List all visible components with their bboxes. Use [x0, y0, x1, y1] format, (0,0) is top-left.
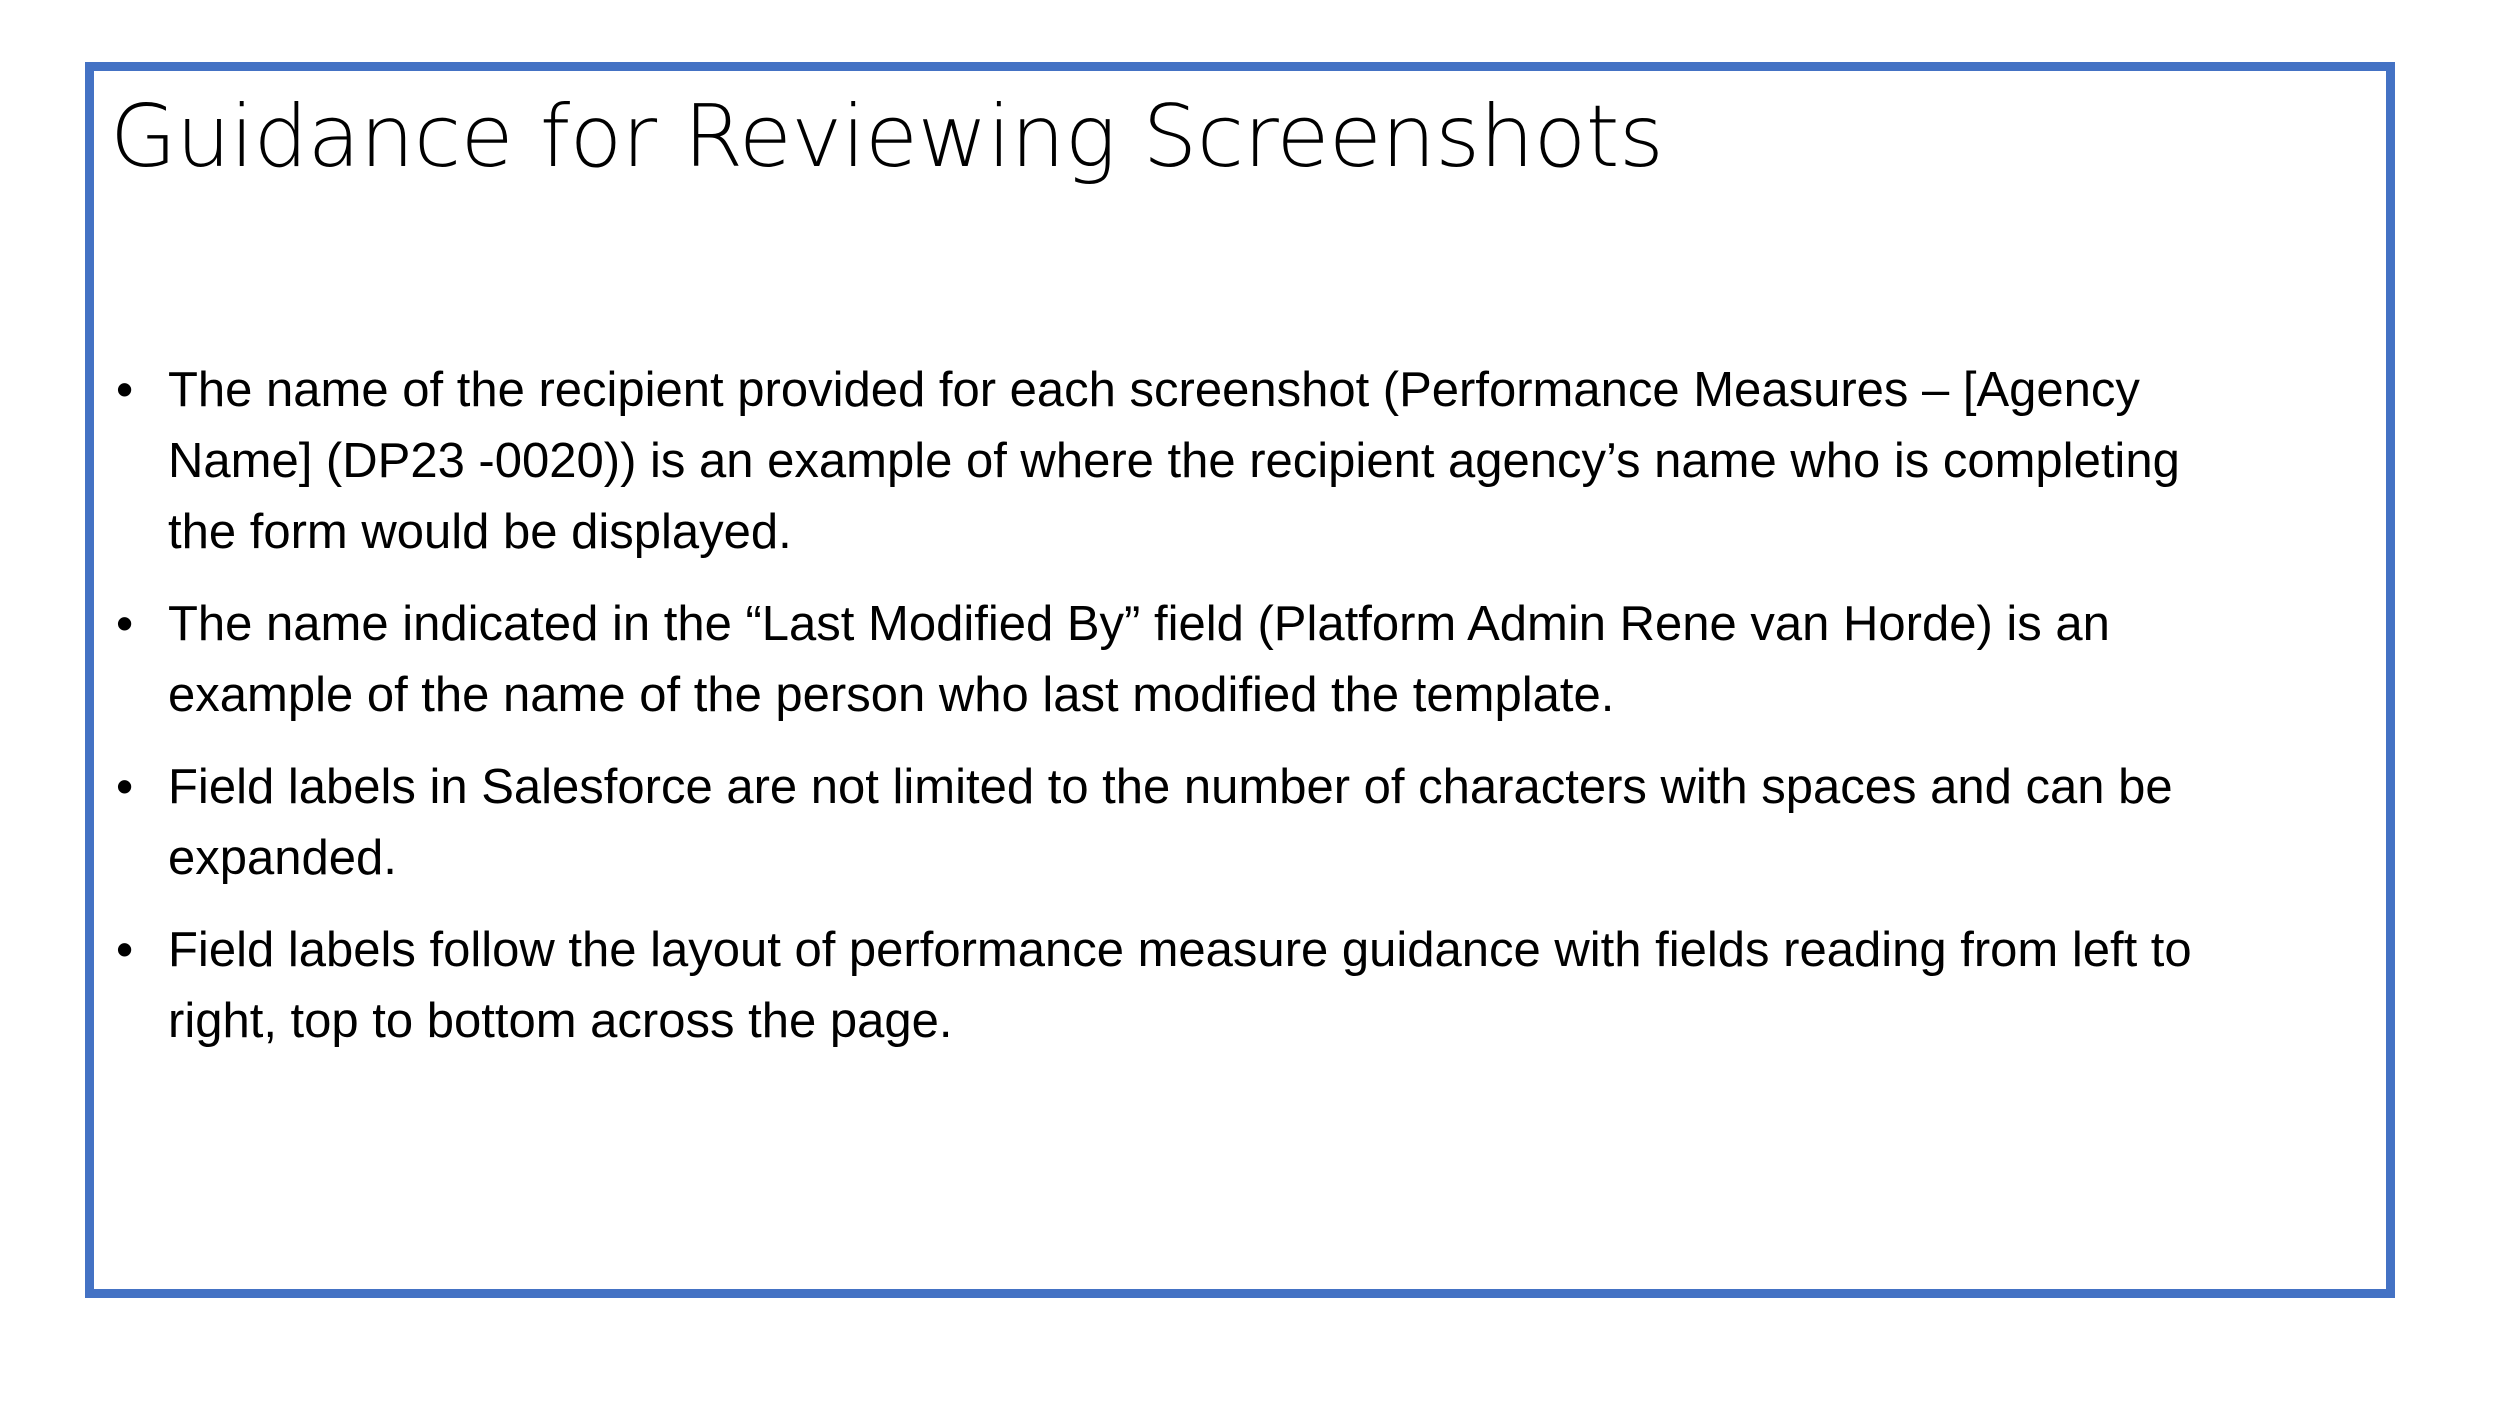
bullet-point-icon: •: [116, 752, 156, 823]
bullet-point-icon: •: [116, 589, 156, 660]
list-item-text: The name of the recipient provided for e…: [168, 355, 2200, 568]
list-item: • Field labels follow the layout of perf…: [110, 915, 2200, 1057]
bullet-point-icon: •: [116, 915, 156, 986]
bullet-point-icon: •: [116, 355, 156, 426]
list-item: • Field labels in Salesforce are not lim…: [110, 752, 2200, 894]
list-item-text: The name indicated in the “Last Modified…: [168, 589, 2200, 731]
list-item-text: Field labels follow the layout of perfor…: [168, 915, 2200, 1057]
list-item-text: Field labels in Salesforce are not limit…: [168, 752, 2200, 894]
list-item: • The name indicated in the “Last Modifi…: [110, 589, 2200, 731]
list-item: • The name of the recipient provided for…: [110, 355, 2200, 568]
bullet-list: • The name of the recipient provided for…: [110, 355, 2200, 1057]
slide-canvas: Guidance for Reviewing Screenshots • The…: [0, 0, 2500, 1406]
page-title: Guidance for Reviewing Screenshots: [110, 85, 2180, 189]
